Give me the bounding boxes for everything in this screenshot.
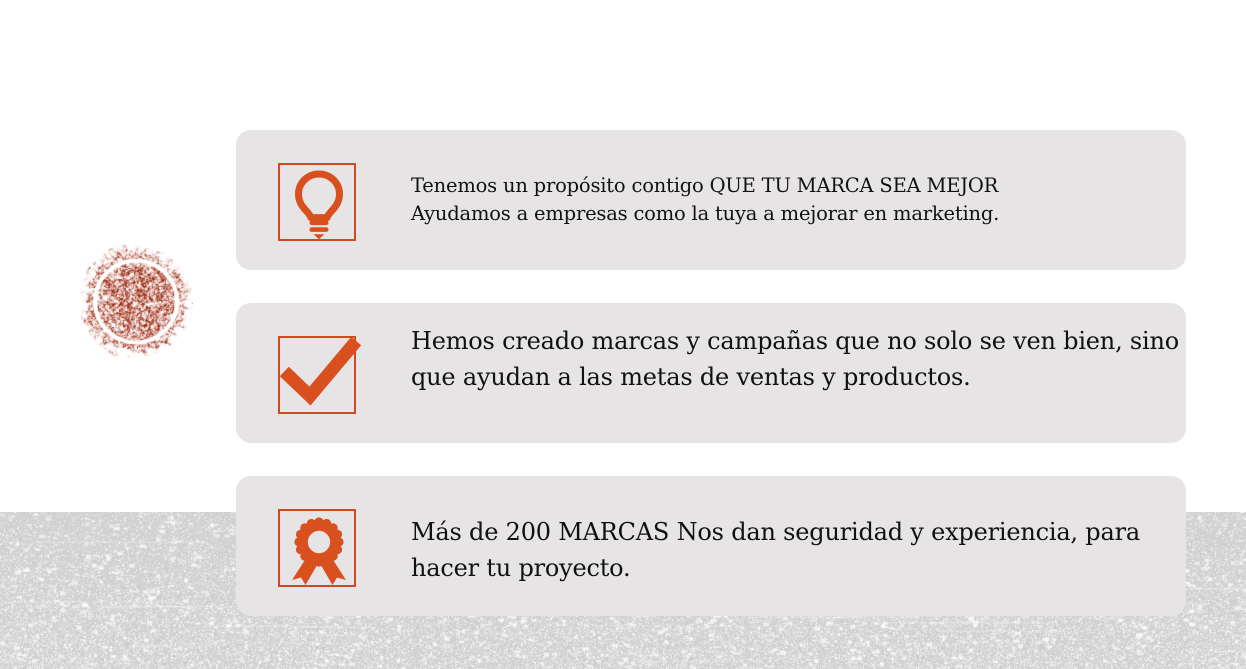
- feature-card: Más de 200 MARCAS Nos dan seguridad y ex…: [236, 476, 1186, 616]
- card-body-text: Hemos creado marcas y campañas que no so…: [411, 323, 1181, 395]
- stamp-canvas: [79, 244, 193, 359]
- lightbulb-icon: [280, 165, 358, 243]
- feature-card: Hemos creado marcas y campañas que no so…: [236, 303, 1186, 443]
- award-ribbon-icon: [280, 511, 358, 589]
- checkmark-icon-box: [278, 336, 356, 414]
- feature-card: Tenemos un propósito contigo QUE TU MARC…: [236, 130, 1186, 270]
- card-body-text: Más de 200 MARCAS Nos dan seguridad y ex…: [411, 514, 1181, 586]
- checkmark-icon: [280, 338, 358, 416]
- card-body-text: Tenemos un propósito contigo QUE TU MARC…: [411, 172, 1111, 228]
- lightbulb-icon-box: [278, 163, 356, 241]
- grunge-circle-stamp: [79, 244, 193, 359]
- award-ribbon-icon-box: [278, 509, 356, 587]
